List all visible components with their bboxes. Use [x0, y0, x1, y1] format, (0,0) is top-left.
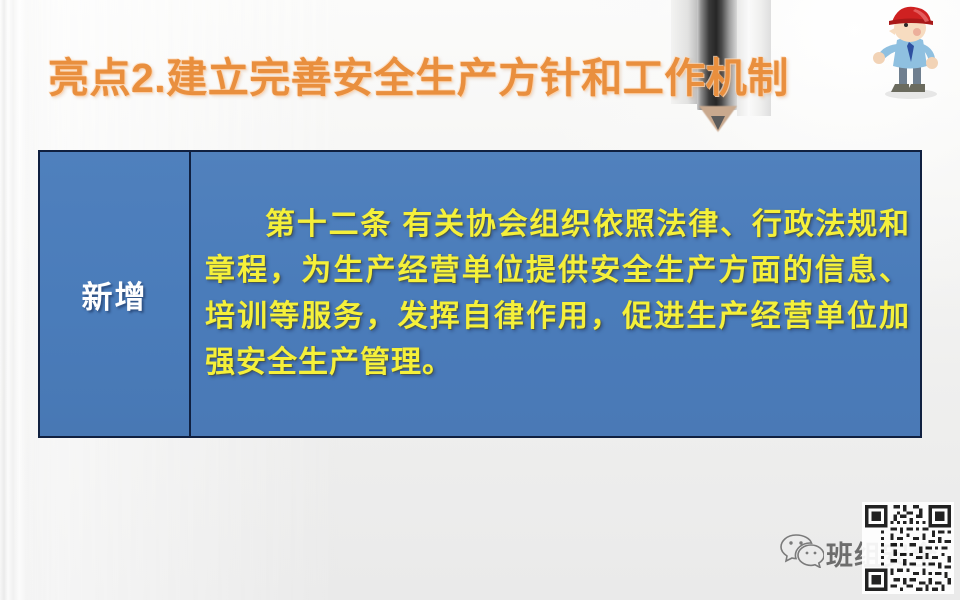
slide-canvas: 亮点2.建立完善安全生产方针和工作机制 新增 第十二条 有关协会组织依照法律、行… [0, 0, 960, 600]
table-body-text: 第十二条 有关协会组织依照法律、行政法规和章程，为生产经营单位提供安全生产方面的… [205, 202, 910, 386]
table-cell-body: 第十二条 有关协会组织依照法律、行政法规和章程，为生产经营单位提供安全生产方面的… [191, 152, 920, 436]
wechat-logo-icon [780, 532, 824, 568]
pencil-lead-tip [711, 116, 725, 130]
table-cell-label: 新增 [40, 152, 191, 436]
page-title: 亮点2.建立完善安全生产方针和工作机制 [48, 44, 789, 104]
qr-code-icon [862, 502, 954, 594]
content-table: 新增 第十二条 有关协会组织依照法律、行政法规和章程，为生产经营单位提供安全生产… [38, 150, 922, 438]
worker-mascot-icon [859, 2, 957, 102]
watermark: 班组安全 [778, 496, 954, 596]
table-label-text: 新增 [82, 272, 148, 317]
